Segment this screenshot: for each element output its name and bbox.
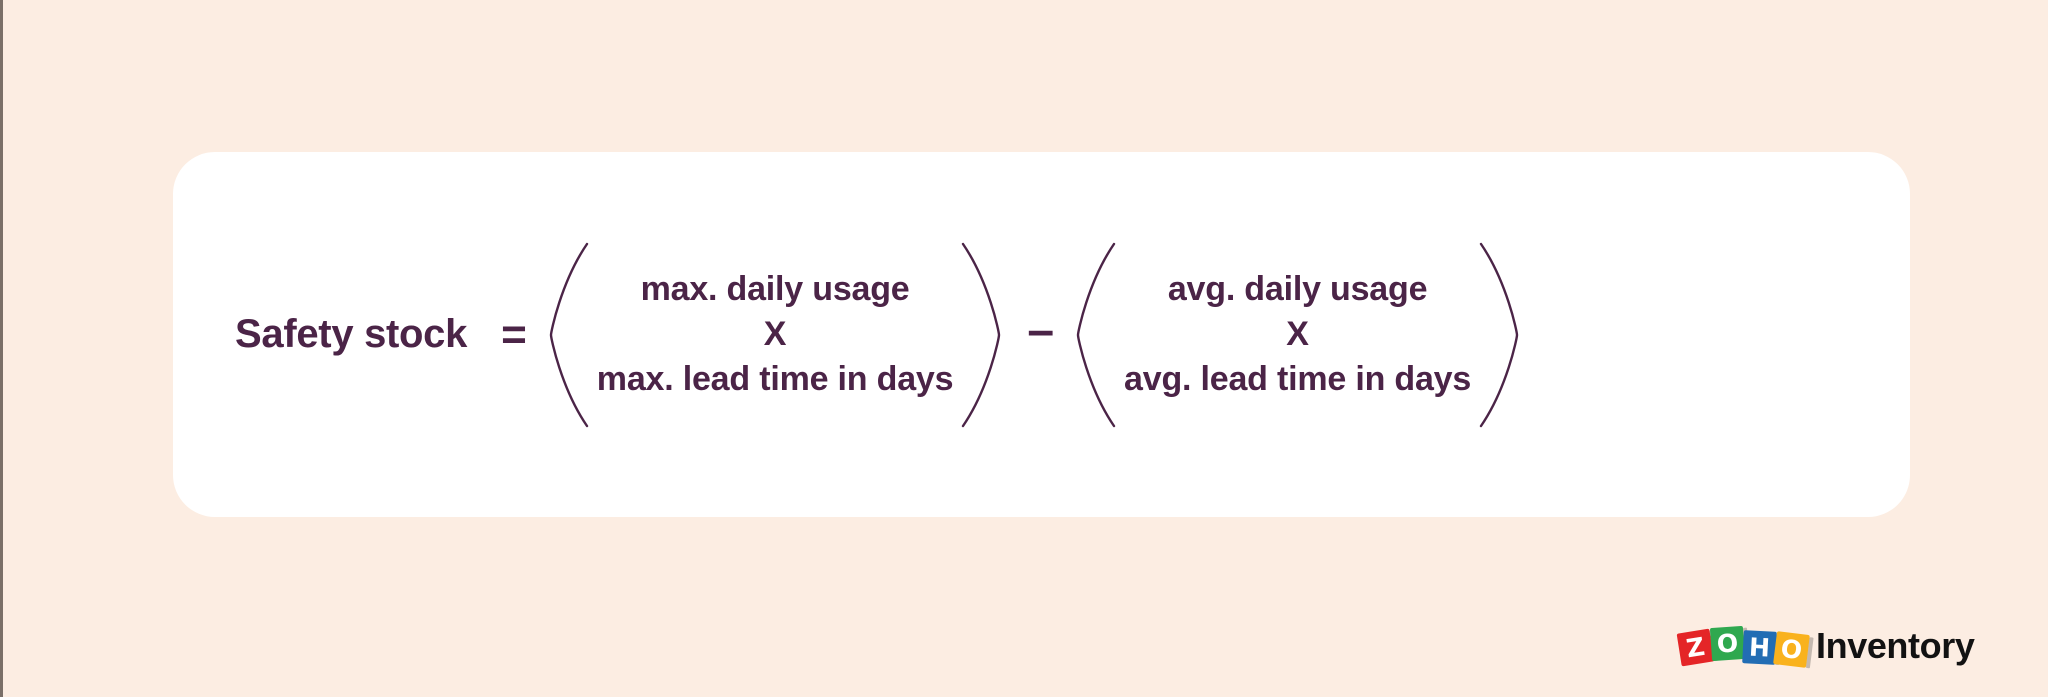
logo-product-name: Inventory xyxy=(1816,628,1974,666)
zoho-tile-o2: O xyxy=(1773,631,1810,668)
formula-group-max-terms: max. daily usage X max. lead time in day… xyxy=(591,267,960,401)
formula-card: Safety stock = max. daily usage X max. l… xyxy=(173,152,1910,517)
formula-group-avg: avg. daily usage X avg. lead time in day… xyxy=(1072,240,1523,430)
formula-group-avg-terms: avg. daily usage X avg. lead time in day… xyxy=(1118,267,1477,401)
zoho-inventory-logo: Z O H O Inventory xyxy=(1679,622,1974,672)
multiply-operator: X xyxy=(1286,312,1309,358)
zoho-tile-o1: O xyxy=(1710,626,1745,661)
formula-result-label: Safety stock xyxy=(235,312,467,357)
term-max-lead-time: max. lead time in days xyxy=(597,357,954,401)
slide-canvas: Safety stock = max. daily usage X max. l… xyxy=(3,0,2048,697)
zoho-logo-icon: Z O H O xyxy=(1679,625,1807,669)
multiply-operator: X xyxy=(764,312,787,358)
close-paren-icon xyxy=(1477,240,1523,430)
term-avg-lead-time: avg. lead time in days xyxy=(1124,357,1471,401)
formula-group-max: max. daily usage X max. lead time in day… xyxy=(545,240,1006,430)
zoho-tile-z: Z xyxy=(1677,629,1715,667)
zoho-tile-h: H xyxy=(1742,630,1777,665)
equals-sign: = xyxy=(501,310,527,360)
open-paren-icon xyxy=(1072,240,1118,430)
term-avg-daily-usage: avg. daily usage xyxy=(1168,267,1427,311)
minus-sign: – xyxy=(1027,319,1054,343)
close-paren-icon xyxy=(959,240,1005,430)
formula-expression: Safety stock = max. daily usage X max. l… xyxy=(173,240,1910,430)
term-max-daily-usage: max. daily usage xyxy=(641,267,910,311)
open-paren-icon xyxy=(545,240,591,430)
